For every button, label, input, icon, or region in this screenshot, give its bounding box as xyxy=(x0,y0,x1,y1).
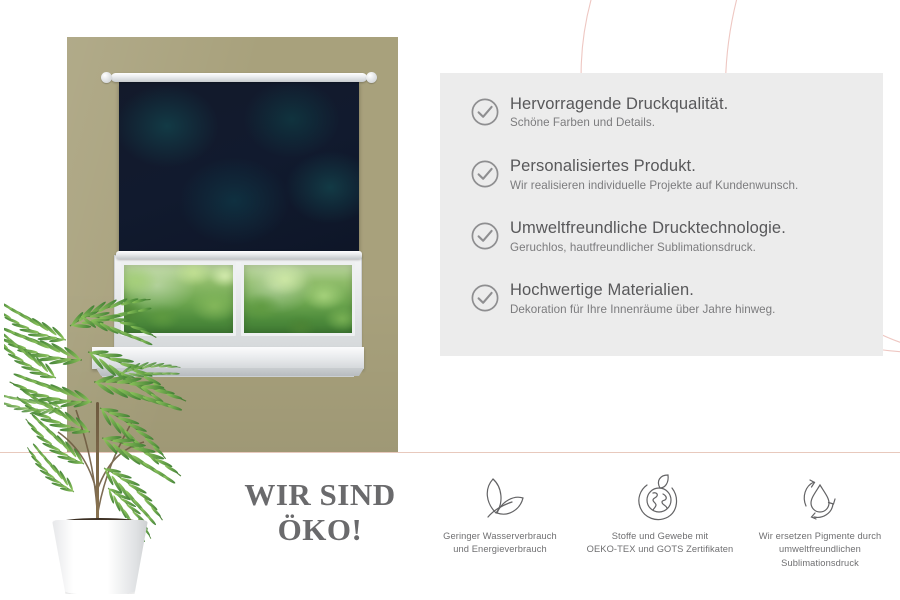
eco-caption-line1: Stoffe und Gewebe mit xyxy=(587,530,734,543)
two-leaves-icon xyxy=(472,470,528,526)
tropical-pattern xyxy=(119,82,359,252)
eco-heading-line2: ÖKO! xyxy=(222,513,418,548)
eco-caption-line3: Sublimationsdruck xyxy=(759,557,882,570)
roller-blind[interactable] xyxy=(119,73,359,261)
blind-roller-tube xyxy=(111,73,367,82)
feature-title: Hochwertige Materialien. xyxy=(510,281,775,300)
blind-bottom-bar xyxy=(116,251,362,259)
feature-item: Hochwertige Materialien. Dekoration für … xyxy=(470,281,865,317)
eco-benefits-list: Geringer Wasserverbrauch und Energieverb… xyxy=(420,470,900,595)
feature-subtitle: Geruchlos, hautfreundlicher Sublimations… xyxy=(510,240,786,256)
infographic-canvas: Hervorragende Druckqualität. Schöne Farb… xyxy=(0,0,900,600)
feature-item: Hervorragende Druckqualität. Schöne Farb… xyxy=(470,95,865,131)
plant-pot xyxy=(52,520,148,594)
eco-caption-line1: Wir ersetzen Pigmente durch xyxy=(759,530,882,543)
eco-item: Wir ersetzen Pigmente durch umweltfreund… xyxy=(740,470,900,595)
check-circle-icon xyxy=(470,159,500,189)
pattern-background xyxy=(119,82,359,252)
blind-fabric xyxy=(119,82,359,252)
features-card: Hervorragende Druckqualität. Schöne Farb… xyxy=(440,73,883,356)
eco-caption-line2: und Energieverbrauch xyxy=(443,543,557,556)
eco-caption: Geringer Wasserverbrauch und Energieverb… xyxy=(443,530,557,557)
plant-trunk xyxy=(96,402,99,524)
feature-title: Hervorragende Druckqualität. xyxy=(510,95,728,114)
feature-item: Personalisiertes Produkt. Wir realisiere… xyxy=(470,157,865,193)
blind-end-cap-left xyxy=(101,72,112,83)
water-drop-recycle-icon xyxy=(792,470,848,526)
eco-heading-line1: WIR SIND xyxy=(222,478,418,513)
eco-heading: WIR SIND ÖKO! xyxy=(222,478,418,547)
features-list: Hervorragende Druckqualität. Schöne Farb… xyxy=(470,95,865,317)
eco-caption: Stoffe und Gewebe mit OEKO-TEX und GOTS … xyxy=(587,530,734,557)
eco-caption: Wir ersetzen Pigmente durch umweltfreund… xyxy=(759,530,882,570)
eco-caption-line2: umweltfreundlichen xyxy=(759,543,882,556)
window-pane-right xyxy=(241,262,356,336)
eco-caption-line1: Geringer Wasserverbrauch xyxy=(443,530,557,543)
feature-title: Personalisiertes Produkt. xyxy=(510,157,798,176)
eco-caption-line2: OEKO-TEX und GOTS Zertifikaten xyxy=(587,543,734,556)
feature-subtitle: Wir realisieren individuelle Projekte au… xyxy=(510,178,798,194)
check-circle-icon xyxy=(470,221,500,251)
check-circle-icon xyxy=(470,97,500,127)
eco-item: Stoffe und Gewebe mit OEKO-TEX und GOTS … xyxy=(580,470,740,595)
feature-title: Umweltfreundliche Drucktechnologie. xyxy=(510,219,786,238)
feature-subtitle: Dekoration für Ihre Innenräume über Jahr… xyxy=(510,302,775,318)
potted-palm xyxy=(4,282,194,600)
blind-end-cap-right xyxy=(366,72,377,83)
feature-item: Umweltfreundliche Drucktechnologie. Geru… xyxy=(470,219,865,255)
eco-item: Geringer Wasserverbrauch und Energieverb… xyxy=(420,470,580,595)
globe-leaf-icon xyxy=(632,470,688,526)
check-circle-icon xyxy=(470,283,500,313)
feature-subtitle: Schöne Farben und Details. xyxy=(510,115,728,131)
